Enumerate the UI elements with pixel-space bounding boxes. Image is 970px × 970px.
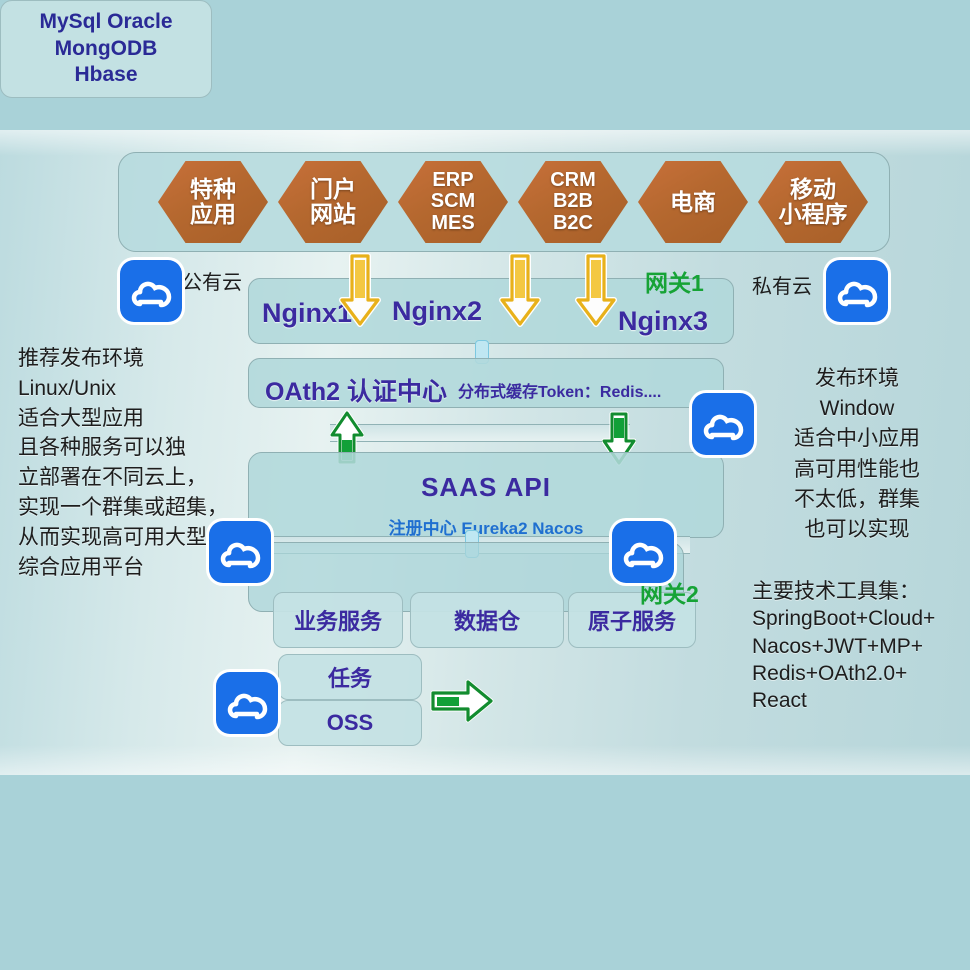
flow-arrow-right-green xyxy=(430,677,494,725)
connector-auth-saas-band xyxy=(330,424,630,442)
note-left: 推荐发布环境 Linux/Unix 适合大型应用 且各种服务可以独 立部署在不同… xyxy=(18,344,233,583)
nginx3-label[interactable]: Nginx3 xyxy=(618,306,708,337)
cloud-icon-auth xyxy=(692,393,754,455)
database-line-2: MongODB xyxy=(55,36,158,63)
database-line-1: MySql Oracle xyxy=(39,9,172,36)
service-business-label: 业务服务 xyxy=(294,604,382,636)
note-tech-stack: 主要技术工具集： SpringBoot+Cloud+ Nacos+JWT+MP+… xyxy=(752,578,967,714)
cloud-icon-public xyxy=(120,260,182,322)
cloud-icon-storage xyxy=(216,672,278,734)
cloud-icon xyxy=(700,405,746,443)
nginx2-label[interactable]: Nginx2 xyxy=(392,296,482,327)
cloud-icon-private xyxy=(826,260,888,322)
app-hex-ecommerce-label: 电商 xyxy=(670,190,716,215)
flow-arrow-down-2 xyxy=(498,252,542,330)
oss-box[interactable]: OSS xyxy=(278,700,422,746)
app-hex-crm-label: CRMB2BB2C xyxy=(550,170,596,235)
cloud-icon-gateway2 xyxy=(612,521,674,583)
flow-arrow-down-1 xyxy=(338,252,382,330)
cloud-icon xyxy=(224,684,270,722)
app-hex-portal-label: 门户网站 xyxy=(310,177,356,227)
cloud-icon-saas-left xyxy=(209,521,271,583)
cloud-icon xyxy=(620,533,666,571)
oss-label: OSS xyxy=(327,710,373,736)
app-hex-mobile-label: 移动小程序 xyxy=(779,177,848,227)
database-box[interactable]: MySql Oracle MongODB Hbase xyxy=(0,0,212,98)
cloud-icon xyxy=(128,272,174,310)
service-business[interactable]: 业务服务 xyxy=(273,592,403,648)
service-data-warehouse-label: 数据仓 xyxy=(454,604,520,636)
task-label: 任务 xyxy=(328,661,372,693)
gateway1-label: 网关1 xyxy=(645,264,704,298)
private-cloud-label: 私有云 xyxy=(752,270,812,299)
saas-api-title: SAAS API xyxy=(248,472,724,503)
task-box[interactable]: 任务 xyxy=(278,654,422,700)
cloud-icon xyxy=(834,272,880,310)
public-cloud-label: 公有云 xyxy=(182,266,242,295)
auth-token-cache-label: 分布式缓存Token：Redis.... xyxy=(458,378,661,402)
note-right: 发布环境 Window 适合中小应用 高可用性能也 不太低，群集 也可以实现 xyxy=(752,364,962,545)
app-hex-special-label: 特种应用 xyxy=(190,177,236,227)
flow-arrow-down-3 xyxy=(574,252,618,330)
service-data-warehouse[interactable]: 数据仓 xyxy=(410,592,564,648)
cloud-icon xyxy=(217,533,263,571)
diagram-canvas: 特种应用 门户网站 ERPSCMMES CRMB2BB2C 电商 移动小程序 N… xyxy=(0,0,970,970)
database-line-3: Hbase xyxy=(74,62,137,89)
app-hex-erp-label: ERPSCMMES xyxy=(431,170,475,235)
auth-center-title: OAth2 认证中心 xyxy=(265,372,447,408)
